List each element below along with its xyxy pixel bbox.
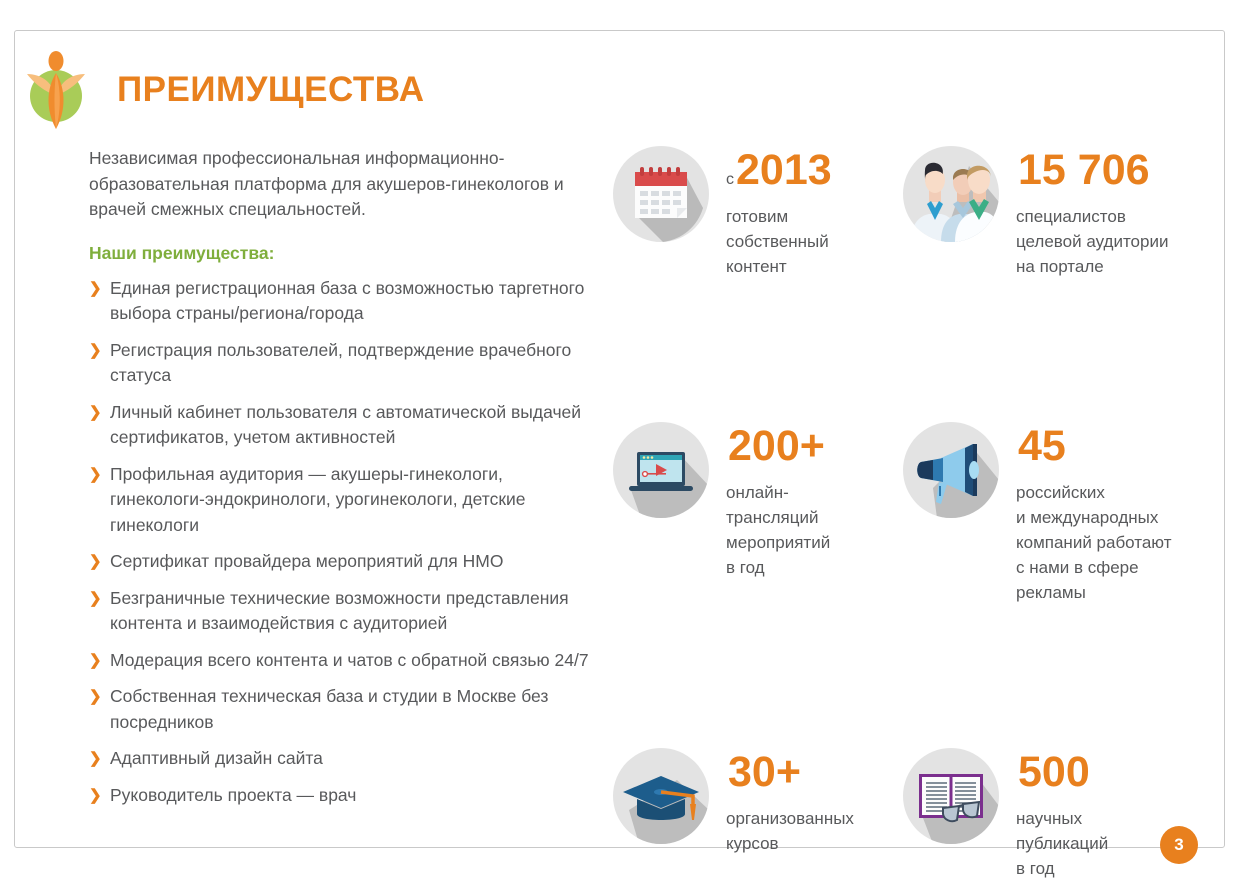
list-item-label: Профильная аудитория — акушеры-гинеколог…	[110, 464, 526, 535]
list-item: ❯ Безграничные технические возможности п…	[89, 586, 601, 637]
list-item: ❯ Собственная техническая база и студии …	[89, 684, 601, 735]
stat-value: 30+	[728, 748, 801, 796]
megaphone-icon	[903, 422, 999, 518]
chevron-right-icon: ❯	[89, 276, 102, 302]
chevron-right-icon: ❯	[89, 684, 102, 710]
stat-value: 15 706	[1018, 146, 1150, 194]
slide-frame: ПРЕИМУЩЕСТВА Независимая профессиональна…	[14, 30, 1225, 848]
stat-value: 45	[1018, 422, 1066, 470]
list-item: ❯ Модерация всего контента и чатов с обр…	[89, 648, 601, 674]
list-item-label: Собственная техническая база и студии в …	[110, 686, 548, 732]
stat-text: с2013 готовим собственный контент	[709, 146, 832, 279]
stat-text: 500 научных публикаций в год	[999, 748, 1108, 881]
chevron-right-icon: ❯	[89, 549, 102, 575]
list-item-label: Единая регистрационная база с возможност…	[110, 278, 584, 324]
list-item-label: Руководитель проекта — врач	[110, 785, 356, 805]
list-item: ❯ Регистрация пользователей, подтвержден…	[89, 338, 601, 389]
stat-row: 200+ онлайн- трансляций мероприятий в го…	[613, 422, 1213, 605]
stat-prefix: с	[726, 171, 734, 188]
stat-number: 30+	[726, 750, 854, 804]
doctors-group-icon	[903, 146, 999, 242]
chevron-right-icon: ❯	[89, 586, 102, 612]
stat-label: онлайн- трансляций мероприятий в год	[726, 480, 830, 580]
list-item-label: Сертификат провайдера мероприятий для НМ…	[110, 551, 503, 571]
stat-block-content-year: с2013 готовим собственный контент	[613, 146, 903, 279]
slide-header: ПРЕИМУЩЕСТВА	[25, 49, 425, 131]
left-content-column: Независимая профессиональная информацион…	[89, 146, 601, 819]
chevron-right-icon: ❯	[89, 338, 102, 364]
stat-value: 500	[1018, 748, 1090, 796]
stat-number: 200+	[726, 424, 830, 478]
stat-number: с2013	[726, 148, 832, 202]
stat-block-companies: 45 российских и международных компаний р…	[903, 422, 1203, 605]
calendar-icon	[613, 146, 709, 242]
laptop-video-icon	[613, 422, 709, 518]
stat-number: 15 706	[1016, 148, 1168, 202]
stat-block-broadcasts: 200+ онлайн- трансляций мероприятий в го…	[613, 422, 903, 605]
advantages-list: ❯ Единая регистрационная база с возможно…	[89, 276, 601, 809]
stat-text: 200+ онлайн- трансляций мероприятий в го…	[709, 422, 830, 580]
stat-label: специалистов целевой аудитории на портал…	[1016, 204, 1168, 279]
stat-label: российских и международных компаний рабо…	[1016, 480, 1171, 605]
stat-value: 200+	[728, 422, 825, 470]
stat-value: 2013	[736, 146, 832, 194]
list-item: ❯ Личный кабинет пользователя с автомати…	[89, 400, 601, 451]
chevron-right-icon: ❯	[89, 648, 102, 674]
list-item: ❯ Профильная аудитория — акушеры-гинекол…	[89, 462, 601, 539]
chevron-right-icon: ❯	[89, 783, 102, 809]
stat-text: 30+ организованных курсов	[709, 748, 854, 856]
stat-block-specialists: 15 706 специалистов целевой аудитории на…	[903, 146, 1203, 279]
list-item: ❯ Адаптивный дизайн сайта	[89, 746, 601, 772]
stat-block-publications: 500 научных публикаций в год	[903, 748, 1203, 881]
stat-label: научных публикаций в год	[1016, 806, 1108, 881]
list-item-label: Регистрация пользователей, подтверждение…	[110, 340, 571, 386]
page-number-badge: 3	[1160, 826, 1198, 864]
stat-row: 30+ организованных курсов	[613, 748, 1213, 881]
stat-text: 15 706 специалистов целевой аудитории на…	[999, 146, 1168, 279]
stat-number: 45	[1016, 424, 1171, 478]
list-item-label: Личный кабинет пользователя с автоматиче…	[110, 402, 581, 448]
list-item-label: Безграничные технические возможности пре…	[110, 588, 569, 634]
stat-text: 45 российских и международных компаний р…	[999, 422, 1171, 605]
list-item-label: Адаптивный дизайн сайта	[110, 748, 323, 768]
list-item: ❯ Сертификат провайдера мероприятий для …	[89, 549, 601, 575]
stat-row: с2013 готовим собственный контент	[613, 146, 1213, 279]
stat-number: 500	[1016, 750, 1108, 804]
book-glasses-icon	[903, 748, 999, 844]
statistics-grid: с2013 готовим собственный контент	[613, 146, 1213, 881]
chevron-right-icon: ❯	[89, 462, 102, 488]
intro-paragraph: Независимая профессиональная информацион…	[89, 146, 601, 223]
list-item-label: Модерация всего контента и чатов с обрат…	[110, 650, 589, 670]
stat-block-courses: 30+ организованных курсов	[613, 748, 903, 881]
person-leaf-logo-icon	[25, 49, 87, 131]
list-item: ❯ Руководитель проекта — врач	[89, 783, 601, 809]
list-item: ❯ Единая регистрационная база с возможно…	[89, 276, 601, 327]
graduation-cap-icon	[613, 748, 709, 844]
advantages-subheading: Наши преимущества:	[89, 243, 601, 264]
stat-label: организованных курсов	[726, 806, 854, 856]
page-title: ПРЕИМУЩЕСТВА	[117, 70, 425, 110]
chevron-right-icon: ❯	[89, 400, 102, 426]
stat-label: готовим собственный контент	[726, 204, 832, 279]
chevron-right-icon: ❯	[89, 746, 102, 772]
